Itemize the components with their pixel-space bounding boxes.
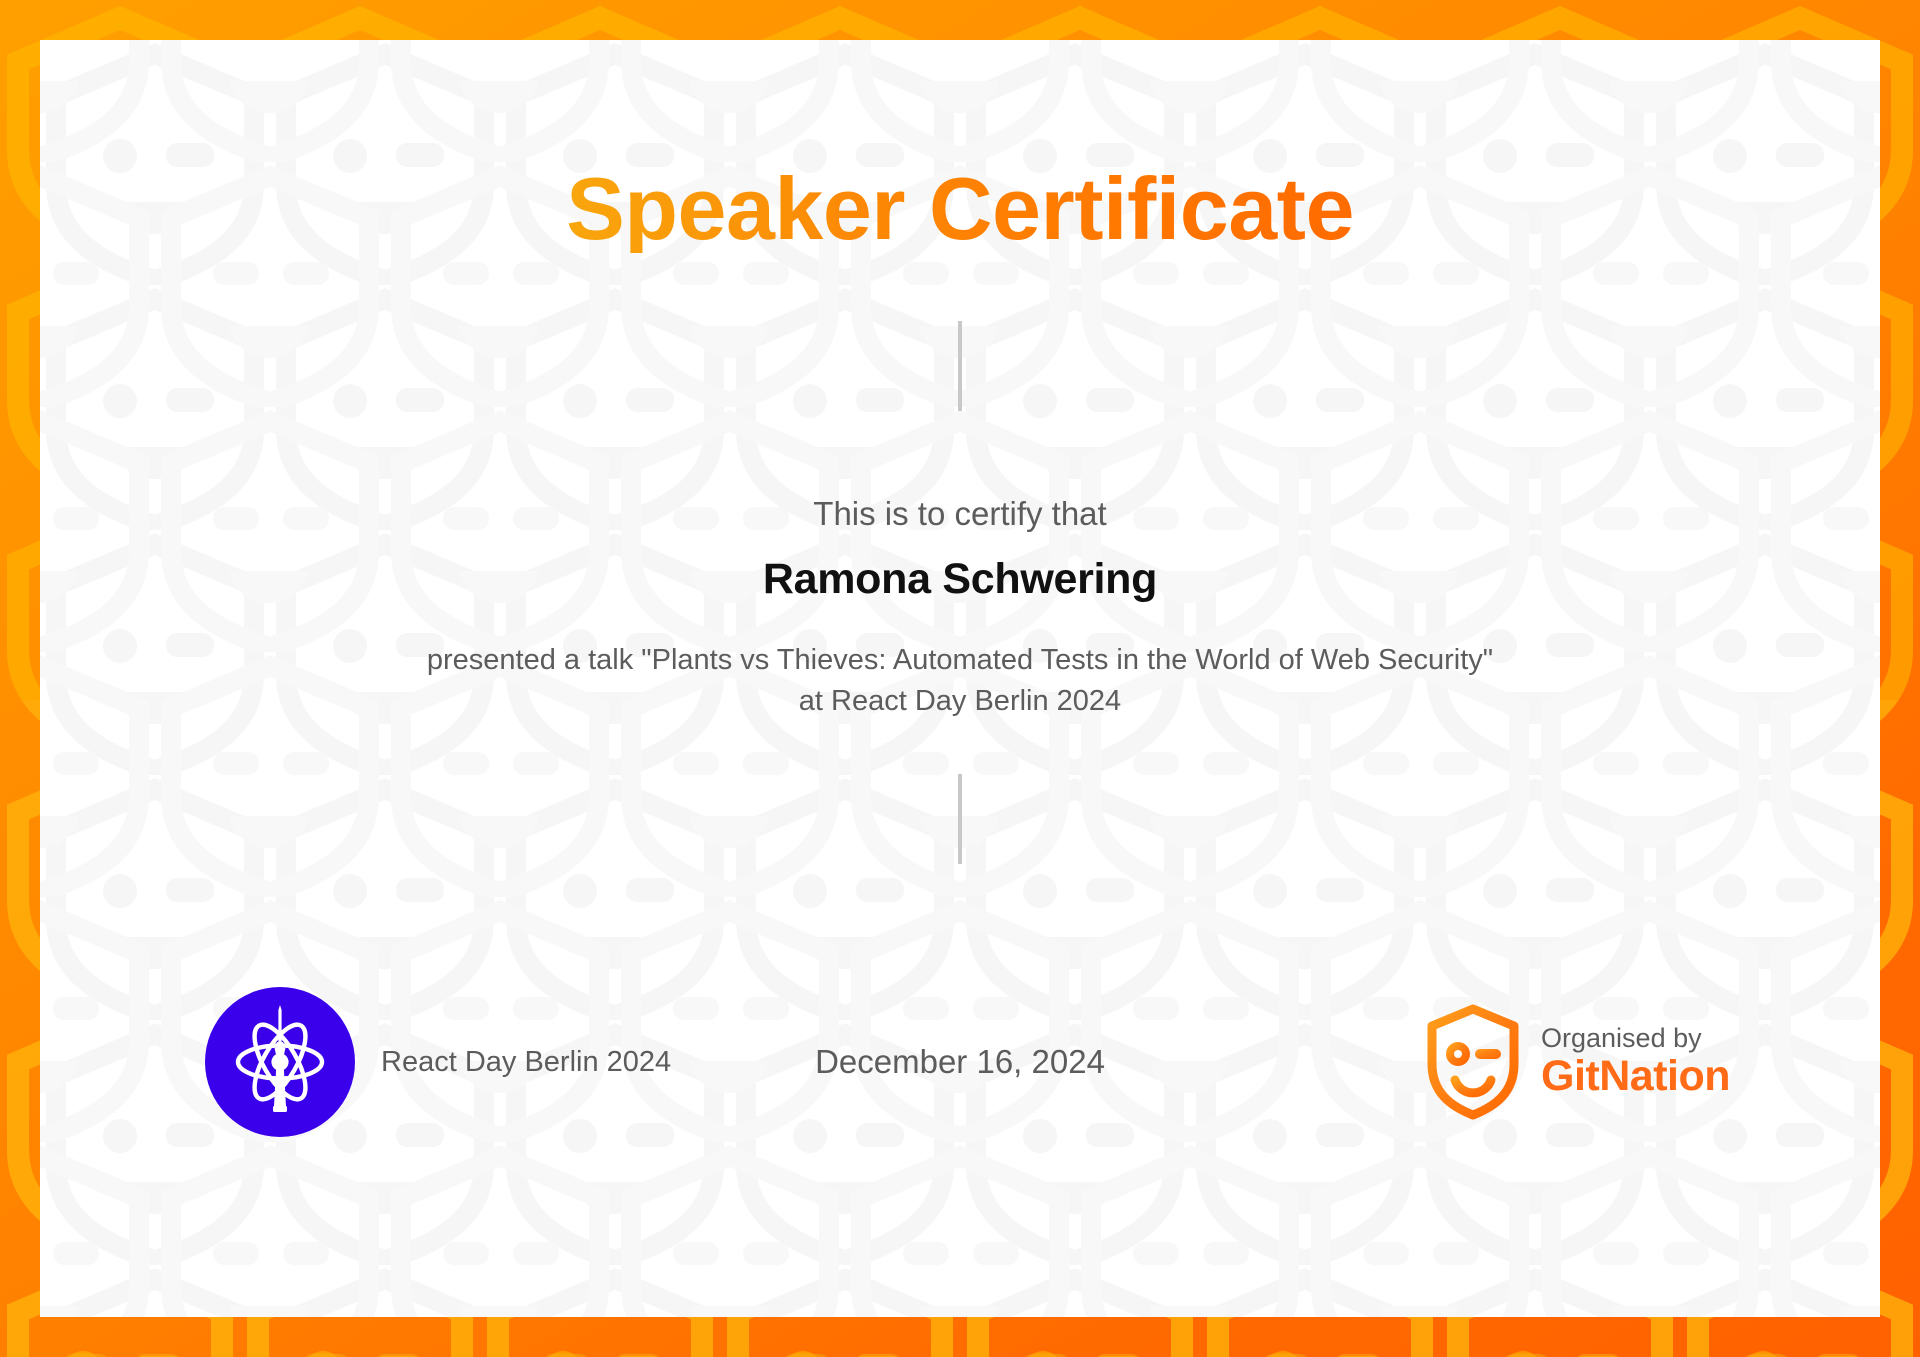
certificate-card: Speaker Certificate This is to certify t… — [40, 40, 1880, 1317]
react-atom-tv-tower-icon — [205, 987, 355, 1137]
talk-description: presented a talk "Plants vs Thieves: Aut… — [427, 640, 1493, 722]
event-branding: React Day Berlin 2024 — [205, 987, 671, 1137]
divider-bottom — [958, 774, 962, 864]
gitnation-shield-face-icon — [1425, 1004, 1521, 1120]
organiser-name: GitNation — [1541, 1053, 1730, 1099]
recipient-name: Ramona Schwering — [763, 555, 1157, 604]
organised-by-label: Organised by — [1541, 1024, 1730, 1053]
divider-top — [958, 321, 962, 411]
page-title: Speaker Certificate — [566, 165, 1354, 253]
organiser-branding: Organised by GitNation — [1425, 1004, 1730, 1120]
certify-statement: This is to certify that — [813, 495, 1106, 533]
issue-date: December 16, 2024 — [815, 1043, 1105, 1081]
event-caption: React Day Berlin 2024 — [381, 1046, 671, 1079]
organiser-text: Organised by GitNation — [1541, 1024, 1730, 1100]
talk-event-line: at React Day Berlin 2024 — [427, 681, 1493, 722]
certificate-frame: Speaker Certificate This is to certify t… — [0, 0, 1920, 1357]
talk-title-line: presented a talk "Plants vs Thieves: Aut… — [427, 640, 1493, 681]
certificate-footer: React Day Berlin 2024 December 16, 2024 — [40, 992, 1880, 1132]
